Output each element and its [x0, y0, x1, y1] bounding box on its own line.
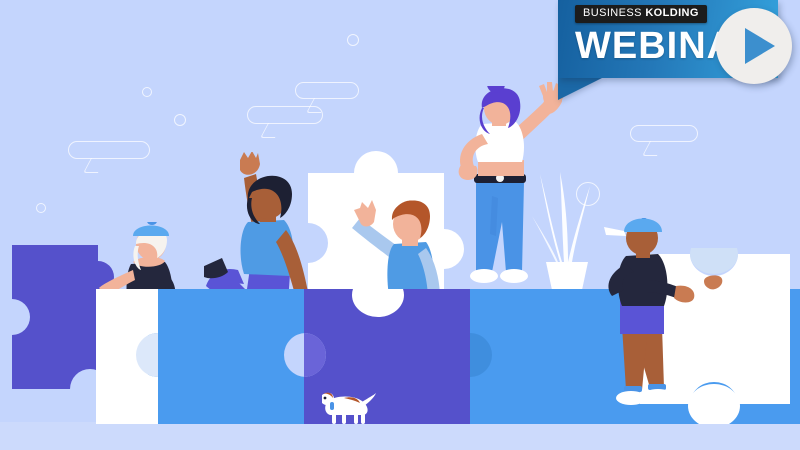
ring-decor — [347, 34, 359, 46]
speech-bubble-decor — [630, 125, 698, 142]
webinar-promo-illustration: BUSINESS KOLDING WEBINAR — [0, 0, 800, 450]
webinar-banner[interactable]: BUSINESS KOLDING WEBINAR — [530, 0, 800, 110]
play-button[interactable] — [716, 8, 792, 84]
badge-kolding-text: KOLDING — [645, 7, 699, 19]
dog — [314, 389, 376, 425]
speech-bubble-decor — [295, 82, 359, 99]
woman-purple-hair-top — [446, 86, 562, 298]
man-with-cap-right — [602, 218, 712, 426]
hand-on-puzzle-right — [702, 273, 724, 293]
ring-decor — [174, 114, 186, 126]
business-kolding-badge: BUSINESS KOLDING — [575, 5, 707, 23]
floor-strip — [0, 422, 800, 450]
badge-business-text: BUSINESS — [583, 7, 642, 19]
puzzle-piece-blue-wall-2 — [470, 289, 610, 424]
speech-bubble-decor — [68, 141, 150, 159]
banner-tail — [558, 78, 602, 100]
ring-decor — [142, 87, 152, 97]
puzzle-piece-blue-wall-1 — [148, 289, 306, 424]
puzzle-piece-white-wall-left — [96, 289, 158, 424]
play-triangle-icon — [745, 28, 775, 64]
ring-decor — [36, 203, 46, 213]
